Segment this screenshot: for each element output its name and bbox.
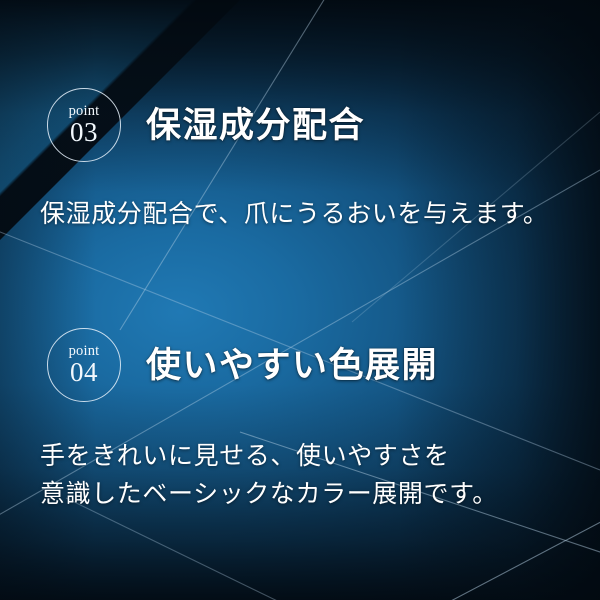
body-line: 手をきれいに見せる、使いやすさを (40, 438, 600, 476)
point-body-04: 手をきれいに見せる、使いやすさを 意識したベーシックなカラー展開です。 (0, 438, 600, 514)
body-line: 意識したベーシックなカラー展開です。 (40, 476, 600, 514)
point-title-03: 保湿成分配合 (146, 108, 365, 143)
badge-word-label: point (69, 104, 100, 119)
badge-word-label: point (69, 344, 100, 359)
point-heading-row-04: point 04 使いやすい色展開 (0, 328, 600, 402)
badge-number-label: 04 (70, 359, 98, 386)
point-block-03: point 03 保湿成分配合 保湿成分配合で、爪にうるおいを与えます。 (0, 88, 600, 234)
point-badge-04: point 04 (47, 328, 121, 402)
slide-content: point 03 保湿成分配合 保湿成分配合で、爪にうるおいを与えます。 poi… (0, 0, 600, 600)
point-title-04: 使いやすい色展開 (146, 348, 438, 383)
point-block-04: point 04 使いやすい色展開 手をきれいに見せる、使いやすさを 意識したベ… (0, 328, 600, 514)
promo-slide: point 03 保湿成分配合 保湿成分配合で、爪にうるおいを与えます。 poi… (0, 0, 600, 600)
point-badge-03: point 03 (47, 88, 121, 162)
point-heading-row-03: point 03 保湿成分配合 (0, 88, 600, 162)
badge-number-label: 03 (70, 119, 98, 146)
point-body-03: 保湿成分配合で、爪にうるおいを与えます。 (0, 196, 600, 234)
body-line: 保湿成分配合で、爪にうるおいを与えます。 (40, 196, 600, 234)
